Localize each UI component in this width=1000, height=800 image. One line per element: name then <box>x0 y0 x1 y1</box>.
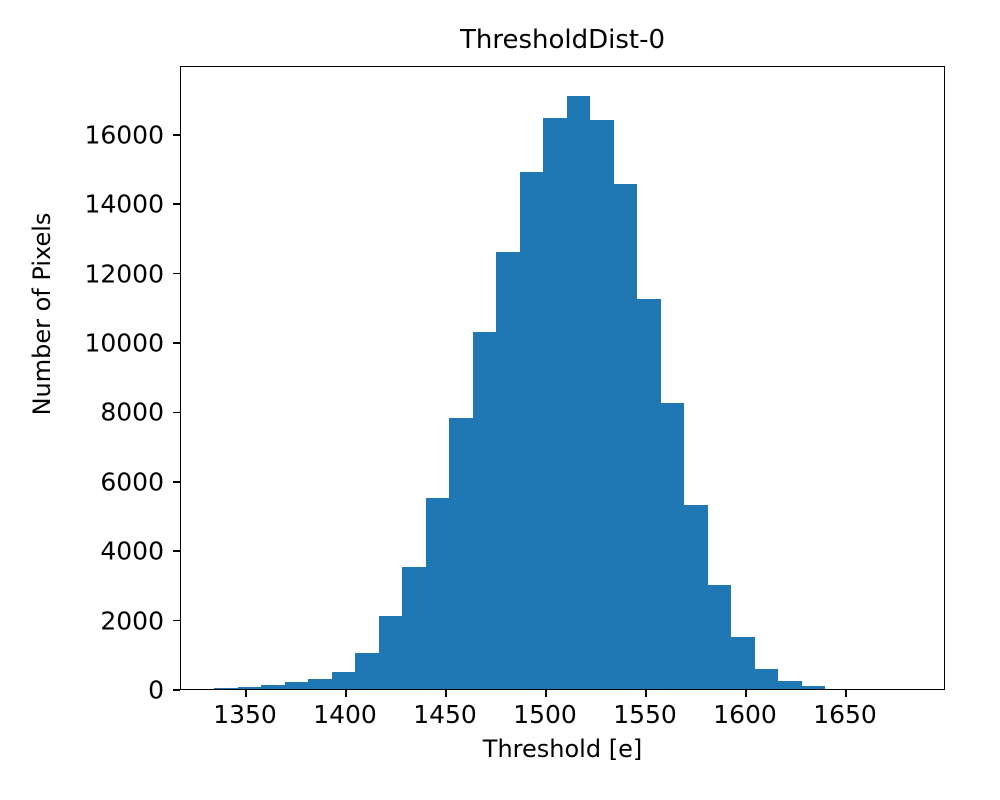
x-tick-mark <box>745 690 747 697</box>
histogram-bar <box>543 118 567 689</box>
y-tick-mark <box>173 550 180 552</box>
histogram-bar <box>214 688 238 689</box>
x-tick-mark <box>545 690 547 697</box>
y-tick-mark <box>173 273 180 275</box>
histogram-bar <box>614 184 638 689</box>
histogram-bar <box>332 672 356 689</box>
histogram-bar <box>426 498 450 690</box>
y-tick-mark <box>173 412 180 414</box>
y-tick-label: 14000 <box>84 190 173 219</box>
y-tick-label: 8000 <box>100 398 173 427</box>
x-tick-mark <box>645 690 647 697</box>
y-tick-label: 2000 <box>100 606 173 635</box>
y-tick-mark <box>173 203 180 205</box>
y-tick-mark <box>173 342 180 344</box>
histogram-bar <box>708 585 732 689</box>
y-tick-label: 12000 <box>84 259 173 288</box>
y-tick-label: 16000 <box>84 120 173 149</box>
histogram-bar <box>355 653 379 689</box>
histogram-bar <box>684 505 708 689</box>
histogram-bar <box>661 403 685 689</box>
x-tick-label: 1650 <box>785 700 905 729</box>
y-tick-mark <box>173 481 180 483</box>
histogram-bar <box>520 172 544 689</box>
histogram-bar <box>590 120 614 689</box>
histogram-bar <box>379 616 403 689</box>
histogram-bar <box>567 96 591 689</box>
histogram-bar <box>778 681 802 689</box>
x-tick-mark <box>245 690 247 697</box>
y-tick-mark <box>173 689 180 691</box>
histogram-bar <box>473 332 497 689</box>
x-tick-mark <box>345 690 347 697</box>
histogram-bar <box>449 418 473 689</box>
y-tick-mark <box>173 620 180 622</box>
histogram-bar <box>308 679 332 689</box>
histogram-bar <box>755 669 779 689</box>
histogram-bar <box>402 567 426 689</box>
histogram-bar <box>496 252 520 689</box>
x-axis-label: Threshold [e] <box>180 735 945 763</box>
x-tick-mark <box>845 690 847 697</box>
y-tick-label: 6000 <box>100 467 173 496</box>
histogram-bar <box>238 687 262 689</box>
y-tick-label: 0 <box>148 676 173 705</box>
y-axis-label: Number of Pixels <box>28 154 56 474</box>
histogram-figure: ThresholdDist-0 135014001450150015501600… <box>0 0 1000 800</box>
histogram-bar <box>285 682 309 689</box>
y-tick-label: 4000 <box>100 537 173 566</box>
histogram-bar <box>261 685 285 689</box>
plot-area <box>180 66 945 690</box>
histogram-bar <box>802 686 826 689</box>
y-tick-mark <box>173 134 180 136</box>
y-axis-ticks: 0200040006000800010000120001400016000 <box>0 0 173 800</box>
x-tick-mark <box>445 690 447 697</box>
histogram-bar <box>731 637 755 689</box>
histogram-bars <box>181 67 944 689</box>
y-tick-label: 10000 <box>84 329 173 358</box>
histogram-bar <box>637 299 661 689</box>
chart-title: ThresholdDist-0 <box>180 26 945 55</box>
